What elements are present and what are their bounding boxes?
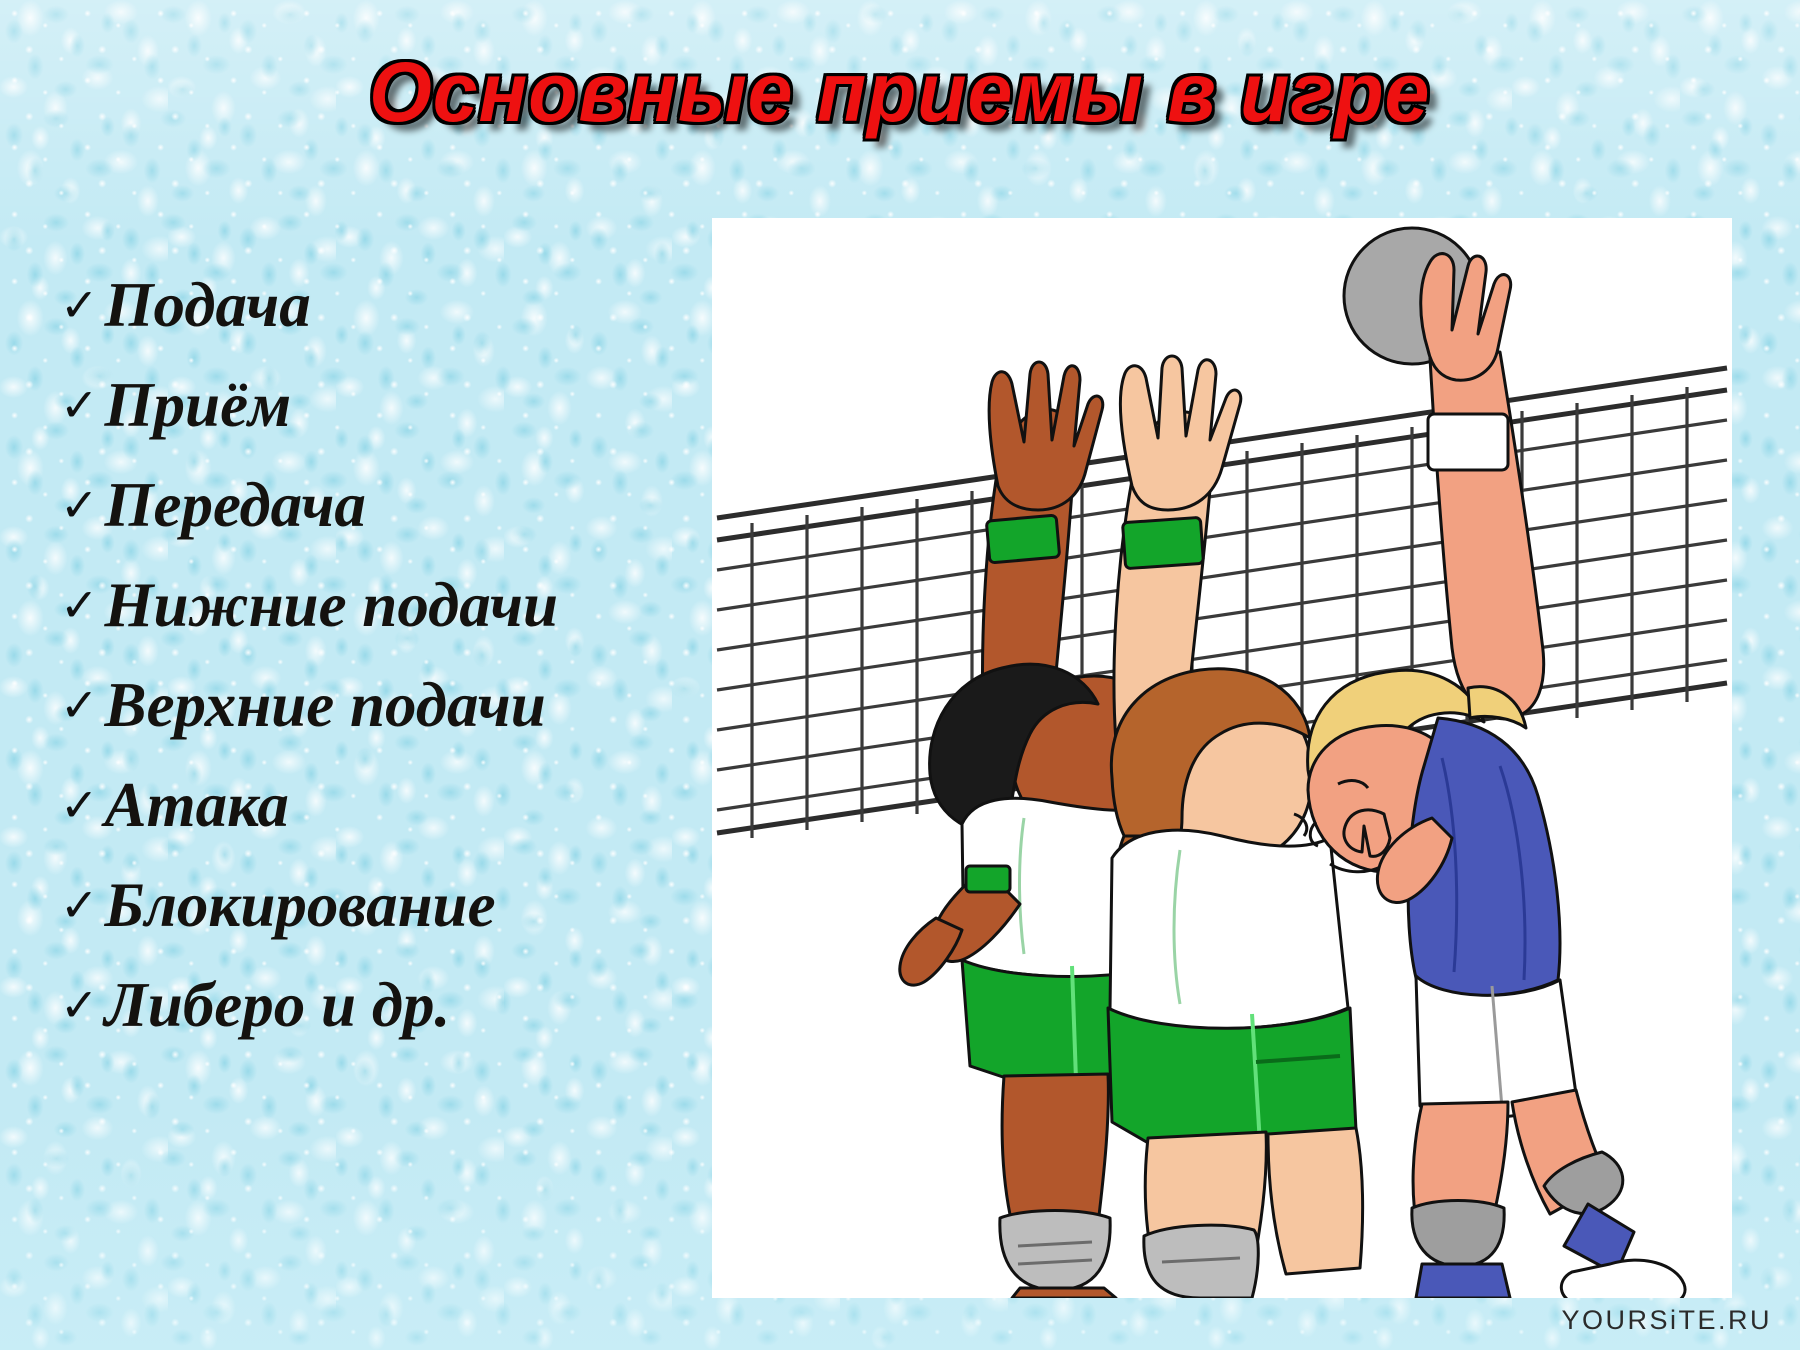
list-item-label: Блокирование [105,874,496,937]
list-item-label: Приём [105,374,292,437]
list-item: ✓ Атака [60,768,710,858]
check-icon: ✓ [60,382,99,428]
check-icon: ✓ [60,282,99,328]
check-icon: ✓ [60,782,99,828]
check-icon: ✓ [60,682,99,728]
list-item-label: Передача [105,474,366,537]
list-item: ✓ Передача [60,468,710,558]
check-icon: ✓ [60,482,99,528]
list-item: ✓ Подача [60,268,710,358]
list-item: ✓ Либеро и др. [60,968,710,1058]
list-item: ✓ Приём [60,368,710,458]
list-item: ✓ Блокирование [60,868,710,958]
list-item-label: Либеро и др. [105,974,451,1037]
list-item-label: Верхние подачи [105,674,546,737]
list-item: ✓ Верхние подачи [60,668,710,758]
page-title: Основные приемы в игре [369,44,1430,141]
check-icon: ✓ [60,882,99,928]
watermark: YOURSiTE.RU [1561,1305,1772,1336]
check-icon: ✓ [60,982,99,1028]
check-icon: ✓ [60,582,99,628]
title-container: Основные приемы в игре [0,44,1800,141]
volleyball-illustration: .ol{stroke:#111;stroke-width:3;stroke-li… [712,218,1732,1298]
techniques-list: ✓ Подача ✓ Приём ✓ Передача ✓ Нижние под… [60,268,710,1068]
list-item-label: Нижние подачи [105,574,559,637]
list-item-label: Подача [105,274,311,337]
list-item-label: Атака [105,774,289,837]
list-item: ✓ Нижние подачи [60,568,710,658]
